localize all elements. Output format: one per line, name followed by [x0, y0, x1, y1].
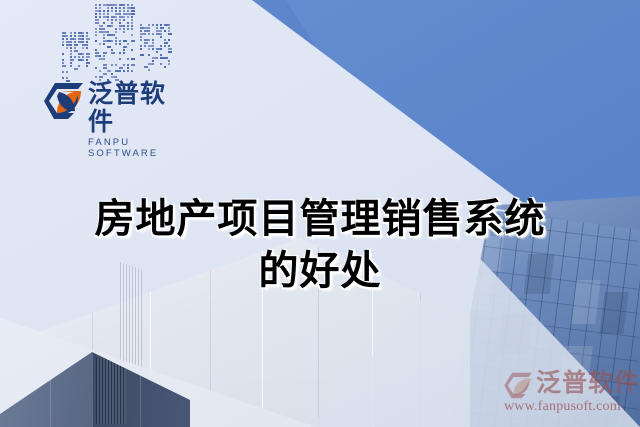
dark-building-seam — [92, 352, 93, 427]
banner-canvas: 泛普软件 FANPU SOFTWARE 房地产项目管理销售系统 的好处 泛普软件… — [0, 0, 640, 427]
headline: 房地产项目管理销售系统 的好处 — [0, 193, 640, 297]
watermark-url: www.fanpusoft.com — [504, 399, 621, 415]
brand-logo-cn: 泛普软件 — [88, 80, 184, 136]
fanpu-logo-mark-icon — [44, 82, 84, 120]
brand-logo: 泛普软件 FANPU SOFTWARE — [44, 80, 184, 128]
fanpu-watermark-mark-icon — [504, 372, 533, 399]
headline-line-1: 房地产项目管理销售系统 — [0, 193, 640, 245]
watermark: 泛普软件 www.fanpusoft.com — [500, 366, 640, 424]
pixelated-skyline-graphic — [62, 2, 172, 82]
dark-building-ribs — [96, 358, 126, 424]
glass-pane — [599, 292, 628, 334]
headline-line-2: 的好处 — [0, 245, 640, 297]
brand-logo-text: 泛普软件 FANPU SOFTWARE — [88, 80, 184, 159]
brand-logo-en: FANPU SOFTWARE — [88, 137, 184, 159]
watermark-brand: 泛普软件 — [536, 368, 640, 398]
